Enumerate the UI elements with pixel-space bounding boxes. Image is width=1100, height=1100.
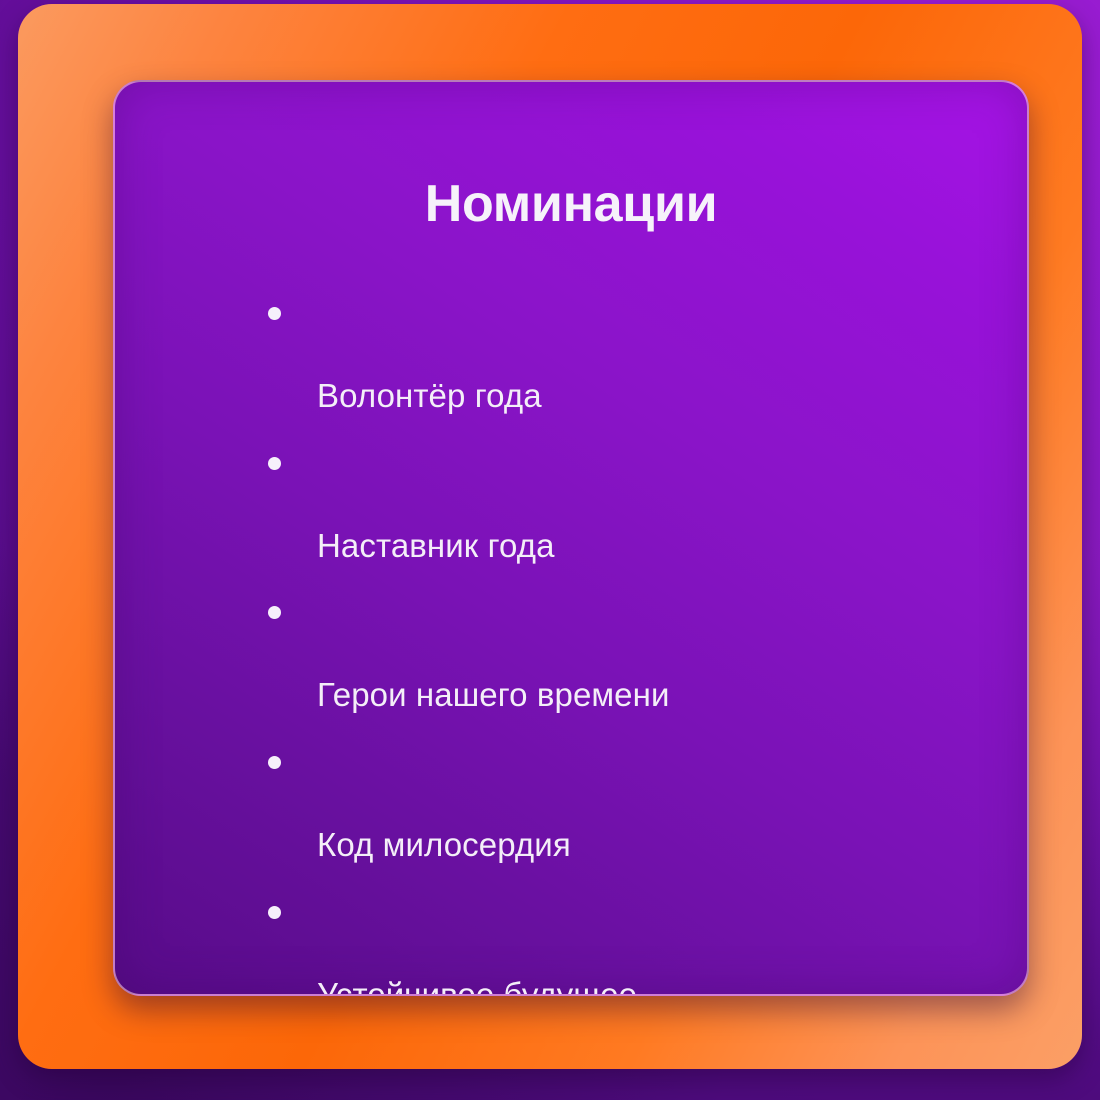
list-item: Герои нашего времени: [261, 590, 997, 716]
list-item: Волонтёр года: [261, 291, 997, 417]
list-item: Наставник года: [261, 441, 997, 567]
bullet-icon: [268, 906, 281, 919]
list-item-label: Наставник года: [317, 527, 555, 564]
page-title: Номинации: [115, 177, 1027, 232]
bullet-icon: [268, 307, 281, 320]
list-item-label: Устойчивое будущее: [317, 976, 637, 996]
list-item-label: Герои нашего времени: [317, 676, 670, 713]
poster: Номинации Волонтёр года Наставник года Г…: [0, 0, 1100, 1100]
nominations-card: Номинации Волонтёр года Наставник года Г…: [113, 80, 1029, 996]
list-item-label: Волонтёр года: [317, 377, 542, 414]
list-item: Код милосердия: [261, 740, 997, 866]
card-content: Номинации Волонтёр года Наставник года Г…: [115, 82, 1027, 994]
bullet-icon: [268, 606, 281, 619]
bullet-icon: [268, 457, 281, 470]
list-item: Устойчивое будущее: [261, 890, 997, 996]
list-item-label: Код милосердия: [317, 826, 571, 863]
orange-frame: Номинации Волонтёр года Наставник года Г…: [18, 4, 1082, 1069]
nominations-list: Волонтёр года Наставник года Герои нашег…: [261, 291, 997, 996]
bullet-icon: [268, 756, 281, 769]
